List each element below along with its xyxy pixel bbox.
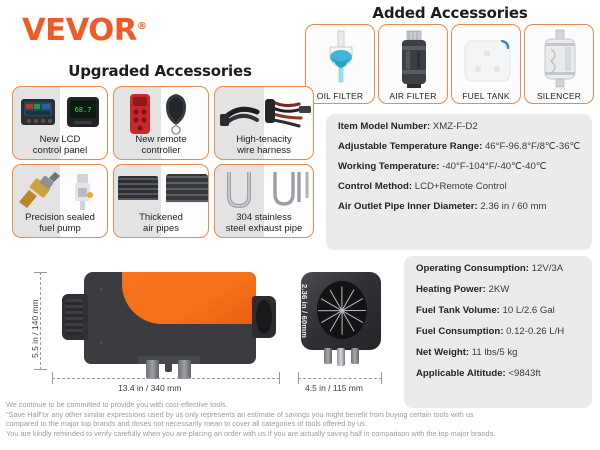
front-width-dimension-line bbox=[298, 378, 382, 379]
spec-row: Control Method: LCD+Remote Control bbox=[338, 181, 582, 192]
spec-panel-secondary: Operating Consumption: 12V/3A Heating Po… bbox=[404, 256, 592, 408]
footer-line: compared to the major top brands and dos… bbox=[6, 419, 596, 429]
spec-row: Applicable Altitude: <9843ft bbox=[416, 368, 582, 379]
vevor-logo: VEVOR® bbox=[22, 16, 146, 46]
added-accessory-label: AIR FILTER bbox=[379, 91, 447, 101]
dim-tick bbox=[381, 372, 382, 384]
remote-controller-icon bbox=[114, 90, 208, 135]
upgraded-accessory-label: Thickened air pipes bbox=[114, 213, 208, 234]
heater-side-view-image bbox=[62, 272, 277, 370]
air-outlet-graphic bbox=[317, 281, 367, 339]
added-accessory-label: FUEL TANK bbox=[452, 91, 520, 101]
spec-panel-primary: Item Model Number: XMZ-F-D2 Adjustable T… bbox=[326, 114, 592, 250]
spec-row: Operating Consumption: 12V/3A bbox=[416, 263, 582, 274]
upgraded-accessory-card-air-pipes[interactable]: Thickened air pipes bbox=[113, 164, 209, 238]
spec-row: Item Model Number: XMZ-F-D2 bbox=[338, 121, 582, 132]
heading-added-accessories: Added Accessories bbox=[300, 4, 600, 22]
fuel-tank-icon bbox=[452, 27, 520, 89]
svg-text:68.7: 68.7 bbox=[75, 106, 92, 114]
added-accessory-card-silencer[interactable]: SILENCER bbox=[524, 24, 594, 104]
heater-length-label: 13.4 in / 340 mm bbox=[118, 383, 181, 393]
added-accessory-label: SILENCER bbox=[525, 91, 593, 101]
heater-front-view-image: 2.36 in / 60mm bbox=[296, 272, 388, 372]
upgraded-accessory-label: High-tenacity wire harness bbox=[215, 135, 313, 156]
wire-harness-icon bbox=[215, 90, 313, 135]
front-width-label: 4.5 in / 115 mm bbox=[305, 383, 363, 393]
fuel-pump-icon bbox=[13, 168, 107, 213]
added-accessory-card-oil-filter[interactable]: OIL FILTER bbox=[305, 24, 375, 104]
spec-row: Net Weight: 11 lbs/5 kg bbox=[416, 347, 582, 358]
upgraded-accessory-card-fuel-pump[interactable]: Precision sealed fuel pump bbox=[12, 164, 108, 238]
upgraded-accessory-card-lcd-panel[interactable]: 68.7 New LCD control panel bbox=[12, 86, 108, 160]
heading-upgraded-accessories: Upgraded Accessories bbox=[0, 62, 320, 80]
air-filter-icon bbox=[379, 27, 447, 89]
upgraded-accessory-label: New remote controller bbox=[114, 135, 208, 156]
product-infographic: VEVOR® Upgraded Accessories Added Access… bbox=[0, 0, 600, 450]
spec-row: Heating Power: 2KW bbox=[416, 284, 582, 295]
outlet-diameter-label: 2.36 in / 60mm bbox=[300, 284, 309, 338]
dim-tick bbox=[279, 372, 280, 384]
added-accessory-label: OIL FILTER bbox=[306, 91, 374, 101]
upgraded-accessory-card-exhaust-pipe[interactable]: 304 stainless steel exhaust pipe bbox=[214, 164, 314, 238]
footer-disclaimer: We continue to be committed to provide y… bbox=[6, 400, 596, 438]
footer-line: We continue to be committed to provide y… bbox=[6, 400, 596, 410]
spec-row: Adjustable Temperature Range: 46°F-96.8°… bbox=[338, 141, 582, 152]
dim-tick bbox=[34, 272, 47, 273]
footer-line: You are kindly reminded to verify carefu… bbox=[6, 429, 596, 439]
upgraded-accessory-label: New LCD control panel bbox=[13, 135, 107, 156]
heater-height-dimension-line bbox=[40, 272, 41, 370]
added-accessory-card-air-filter[interactable]: AIR FILTER bbox=[378, 24, 448, 104]
silencer-icon bbox=[525, 27, 593, 89]
spec-row: Air Outlet Pipe Inner Diameter: 2.36 in … bbox=[338, 201, 582, 212]
footer-line: "Save Half"or any other similar expressi… bbox=[6, 410, 596, 420]
dim-tick bbox=[298, 372, 299, 384]
exhaust-pipe-icon bbox=[215, 168, 313, 213]
oil-filter-icon bbox=[306, 27, 374, 89]
spec-row: Fuel Tank Volume: 10 L/2.6 Gal bbox=[416, 305, 582, 316]
upgraded-accessory-label: Precision sealed fuel pump bbox=[13, 213, 107, 234]
air-pipe-icon bbox=[114, 168, 208, 213]
upgraded-accessory-card-remote[interactable]: New remote controller bbox=[113, 86, 209, 160]
dim-tick bbox=[34, 369, 47, 370]
registered-mark: ® bbox=[137, 21, 147, 32]
heater-length-dimension-line bbox=[52, 378, 280, 379]
spec-row: Working Temperature: -40°F-104°F/-40℃-40… bbox=[338, 161, 582, 172]
brand-name: VEVOR bbox=[22, 13, 137, 48]
spec-row: Fuel Consumption: 0.12-0.26 L/H bbox=[416, 326, 582, 337]
upgraded-accessory-card-wire-harness[interactable]: High-tenacity wire harness bbox=[214, 86, 314, 160]
dim-tick bbox=[52, 372, 53, 384]
lcd-panel-icon: 68.7 bbox=[13, 90, 107, 135]
added-accessory-card-fuel-tank[interactable]: FUEL TANK bbox=[451, 24, 521, 104]
heater-height-label: 5.5 in / 140 mm bbox=[30, 299, 40, 358]
upgraded-accessory-label: 304 stainless steel exhaust pipe bbox=[215, 213, 313, 234]
